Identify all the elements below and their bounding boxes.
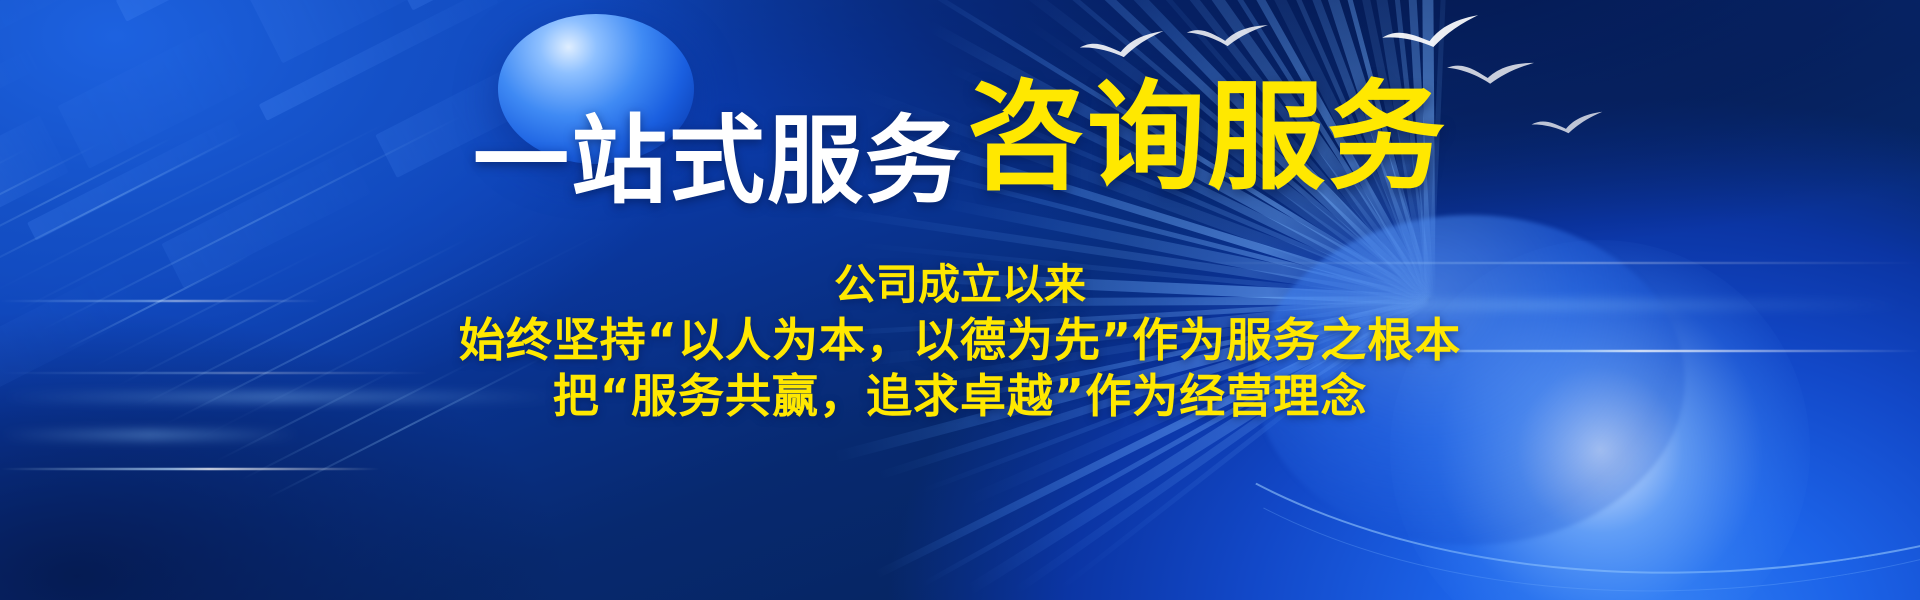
- headline-primary: 一站式服务: [473, 105, 963, 217]
- body-line-3: 把“服务共赢，追求卓越”作为经营理念: [0, 368, 1920, 424]
- banner-body-copy: 公司成立以来 始终坚持“以人为本，以德为先”作为服务之根本 把“服务共赢，追求卓…: [0, 258, 1920, 424]
- body-line-1: 公司成立以来: [0, 258, 1920, 312]
- promo-banner: 一站式服务咨询服务 公司成立以来 始终坚持“以人为本，以德为先”作为服务之根本 …: [0, 0, 1920, 600]
- light-streak: [0, 430, 300, 440]
- light-streak: [0, 468, 380, 470]
- banner-headline: 一站式服务咨询服务: [0, 78, 1920, 209]
- headline-accent: 咨询服务: [967, 68, 1447, 206]
- body-line-2: 始终坚持“以人为本，以德为先”作为服务之根本: [0, 312, 1920, 368]
- bird-icon: [1185, 21, 1272, 50]
